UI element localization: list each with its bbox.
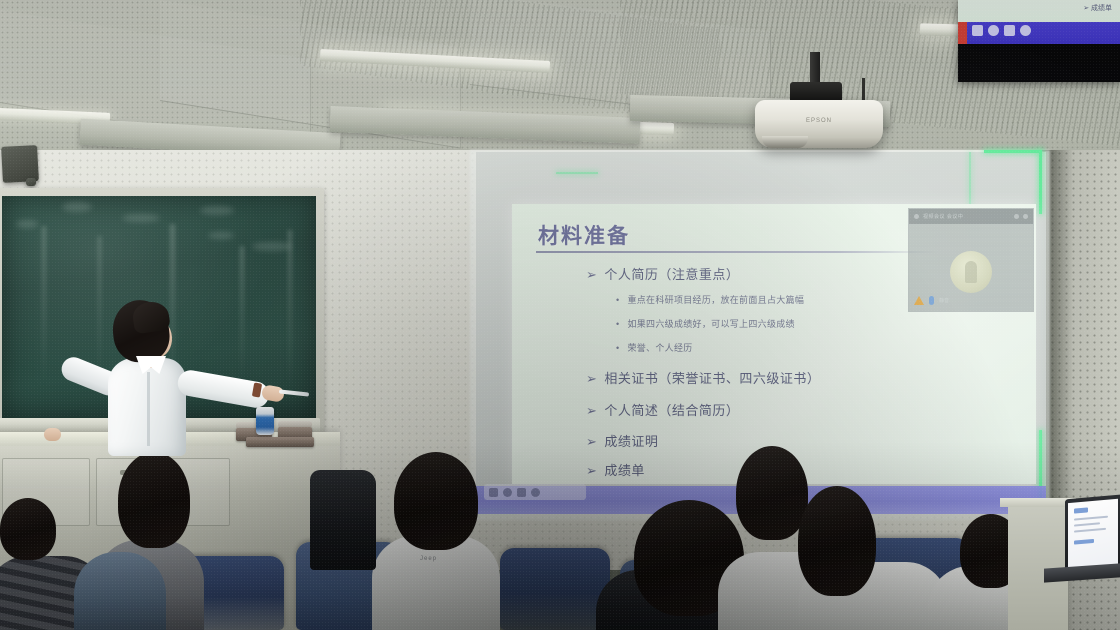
bullet-arrow-icon: ➢ xyxy=(586,434,597,450)
student-body xyxy=(74,552,166,630)
bullet-arrow-icon: ➢ xyxy=(586,403,597,419)
slide-subbullet-1-2-text: 如果四六级成绩好，可以写上四六级成绩 xyxy=(627,319,794,329)
slide-bullet-5: ➢成绩单 xyxy=(586,460,645,479)
slide-bullet-4: ➢成绩证明 xyxy=(586,431,658,450)
student-head xyxy=(798,486,876,596)
slide-bullet-4-text: 成绩证明 xyxy=(604,434,658,449)
classroom-photo: EPSON 材料准备 ➢个人简历（注意重点） •重点在科研项目经历，放在前面且占… xyxy=(0,0,1120,630)
chalk-streak xyxy=(288,230,292,395)
meeting-window-title: 视频会议 会议中 xyxy=(923,213,963,220)
laptop-screen-content xyxy=(1074,516,1108,521)
meeting-statusbar: 静音 xyxy=(914,296,949,305)
monitor-slide-area: ➢ 成绩单 xyxy=(958,0,1120,22)
lecture-chair xyxy=(500,548,610,630)
student-head xyxy=(394,452,478,550)
subbullet-dot-icon: • xyxy=(616,319,619,329)
chalk-smudge xyxy=(122,214,160,222)
meeting-window-titlebar: 视频会议 会议中 xyxy=(909,209,1033,224)
alignment-marker-top-left xyxy=(556,172,598,174)
laptop-screen xyxy=(1068,499,1118,572)
meeting-status-label: 静音 xyxy=(939,297,949,304)
slide-grid-icon[interactable] xyxy=(517,488,526,497)
secondary-monitor: ➢ 成绩单 xyxy=(958,0,1120,82)
subbullet-dot-icon: • xyxy=(616,295,619,305)
slide-bullet-1: ➢个人简历（注意重点） xyxy=(586,264,739,283)
student-head xyxy=(736,446,808,540)
laptop-screen-content xyxy=(1074,539,1094,545)
more-options-icon[interactable] xyxy=(1020,25,1031,36)
monitor-slide-text: ➢ 成绩单 xyxy=(1083,3,1112,13)
ppt-tool-group[interactable] xyxy=(484,484,586,500)
monitor-accent-bar xyxy=(958,22,967,44)
slide-bullet-2: ➢相关证书（荣誉证书、四六级证书） xyxy=(586,368,820,387)
slide-subbullet-1-3-text: 荣誉、个人经历 xyxy=(627,343,692,353)
slide-subbullet-1-3: •荣誉、个人经历 xyxy=(616,341,693,354)
presenter-shirt-placket xyxy=(147,372,150,446)
meeting-menu-icon[interactable] xyxy=(914,214,919,219)
student-head xyxy=(118,452,190,548)
projector-brand-label: EPSON xyxy=(806,118,832,124)
title-underline xyxy=(536,251,938,253)
slide-bullet-3-text: 个人简述（结合简历） xyxy=(604,403,739,418)
slide-bullet-1-text: 个人简历（注意重点） xyxy=(604,267,739,282)
bullet-arrow-icon: ➢ xyxy=(586,371,597,387)
video-meeting-overlay[interactable]: 视频会议 会议中 静音 xyxy=(908,208,1034,312)
chalk-smudge xyxy=(252,242,292,251)
wall-speaker-bracket xyxy=(26,178,36,186)
projector-lens xyxy=(762,136,808,148)
chalk-streak xyxy=(240,246,244,386)
chalk-streak xyxy=(98,236,101,386)
side-desk xyxy=(1008,500,1068,630)
slide-bullet-3: ➢个人简述（结合简历） xyxy=(586,400,739,419)
laptop-screen-content xyxy=(1074,507,1088,513)
avatar-silhouette-icon xyxy=(965,261,977,283)
bullet-arrow-icon: ➢ xyxy=(586,463,597,479)
slide-bullet-2-text: 相关证书（荣誉证书、四六级证书） xyxy=(604,371,820,386)
laptop-screen-content xyxy=(1074,522,1100,526)
subbullet-dot-icon: • xyxy=(616,343,619,353)
slide-subbullet-1-1-text: 重点在科研项目经历，放在前面且占大篇幅 xyxy=(627,295,804,305)
alignment-marker-top-right-v xyxy=(1039,150,1042,214)
monitor-dark-area xyxy=(958,44,1120,82)
chalk-smudge xyxy=(16,220,38,228)
presenter-left-hand xyxy=(44,428,61,441)
student-head xyxy=(0,498,56,560)
student-body xyxy=(372,536,500,630)
pen-icon[interactable] xyxy=(489,488,498,497)
meeting-close-icon[interactable] xyxy=(1023,214,1028,219)
bullet-arrow-icon: ➢ xyxy=(586,267,597,283)
backpack xyxy=(310,470,376,570)
laser-pointer-icon[interactable] xyxy=(988,25,999,36)
slide-grid-icon[interactable] xyxy=(1004,25,1015,36)
tshirt-print: Jeep xyxy=(420,556,437,562)
chalk-smudge xyxy=(62,202,92,212)
laser-pointer-icon[interactable] xyxy=(503,488,512,497)
slide-bullet-5-text: 成绩单 xyxy=(604,463,645,478)
more-options-icon[interactable] xyxy=(531,488,540,497)
laptop-screen-content xyxy=(1074,528,1106,533)
pen-icon[interactable] xyxy=(972,25,983,36)
blackboard-eraser xyxy=(246,437,314,447)
chalk-smudge xyxy=(208,232,234,239)
meeting-minimize-icon[interactable] xyxy=(1014,214,1019,219)
chalk-streak xyxy=(42,226,46,386)
slide-subbullet-1-1: •重点在科研项目经历，放在前面且占大篇幅 xyxy=(616,293,804,306)
water-cup xyxy=(256,407,274,435)
ceiling xyxy=(0,0,1120,175)
monitor-tool-group[interactable] xyxy=(972,25,1031,36)
slide-subbullet-1-2: •如果四六级成绩好，可以写上四六级成绩 xyxy=(616,317,795,330)
alignment-marker-top-right-h xyxy=(984,150,1042,153)
slide-title: 材料准备 xyxy=(538,220,630,250)
warning-triangle-icon xyxy=(914,296,924,305)
chalk-smudge xyxy=(200,206,234,215)
microphone-icon[interactable] xyxy=(929,296,934,305)
